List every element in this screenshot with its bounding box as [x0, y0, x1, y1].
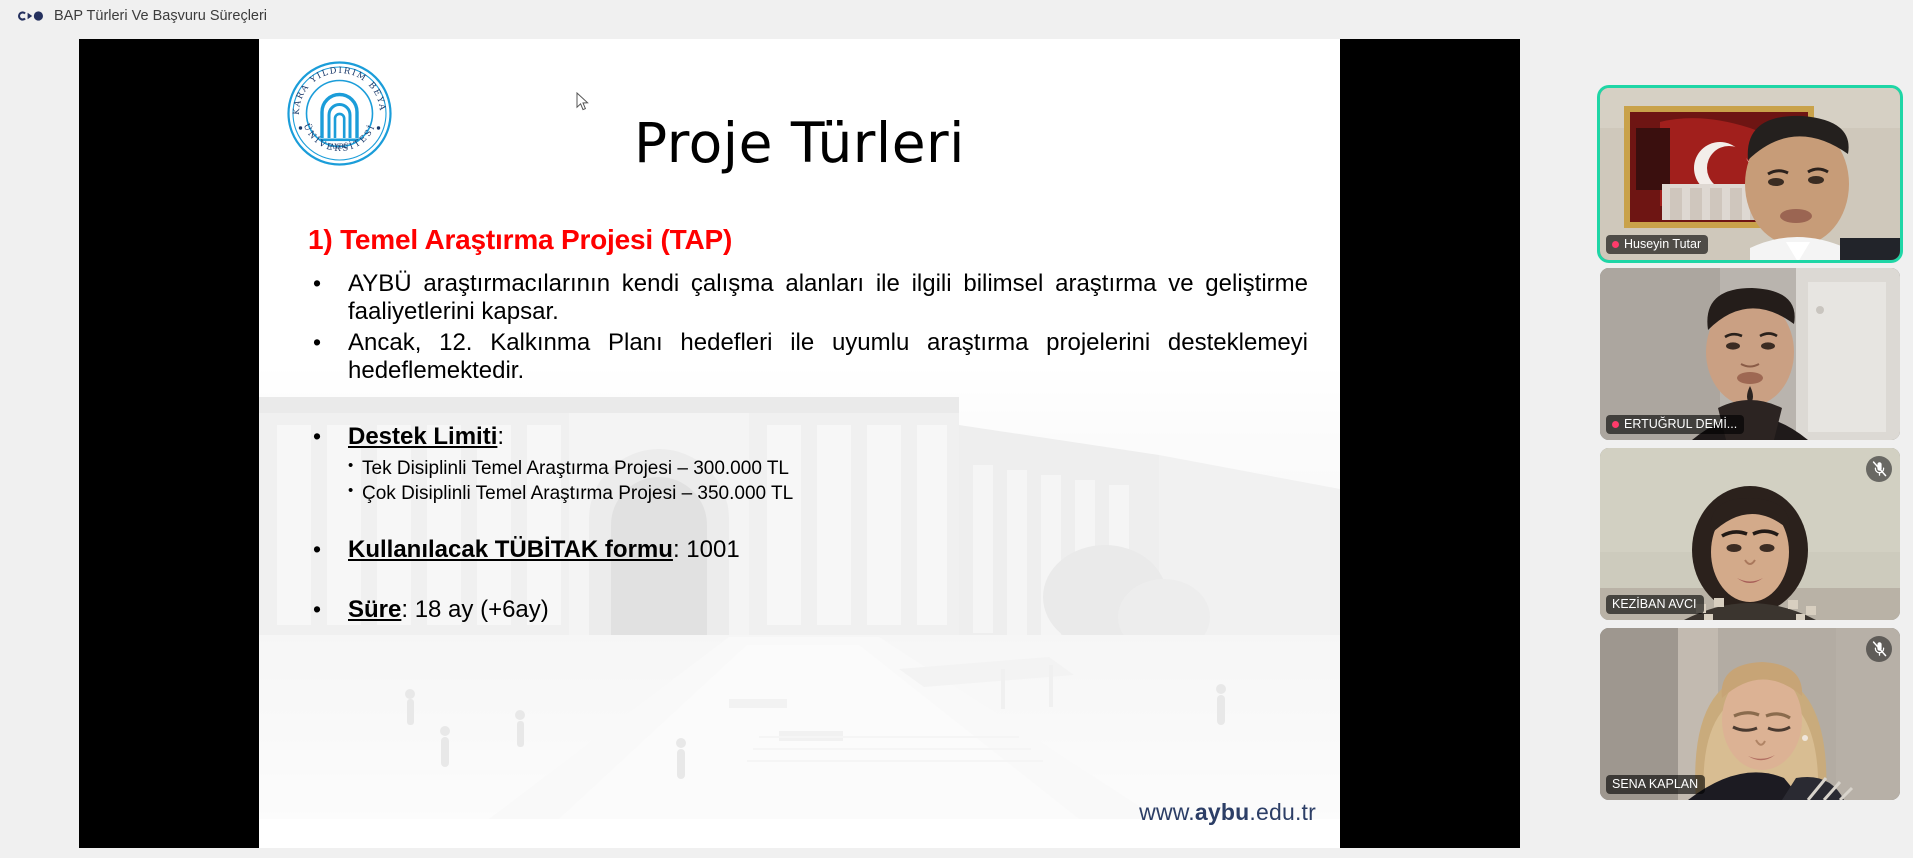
participant-name: SENA KAPLAN [1612, 777, 1698, 791]
bullet-text: Destek Limiti: [348, 423, 1308, 451]
mic-muted-icon [1866, 456, 1892, 482]
url-suffix: .edu.tr [1249, 799, 1316, 825]
window-title-bar: BAP Türleri Ve Başvuru Süreçleri [0, 0, 1913, 32]
destek-limiti-list: Tek Disiplinli Temel Araştırma Projesi –… [348, 456, 1308, 506]
sure-value: : 18 ay (+6ay) [401, 596, 548, 623]
url-brand: aybu [1195, 799, 1249, 825]
crowdcompass-logo-icon [14, 8, 44, 24]
slide-footer-url: www.aybu.edu.tr [1139, 799, 1316, 826]
tubitak-formu-value: : 1001 [673, 536, 740, 563]
bullet-text: Ancak, 12. Kalkınma Planı hedefleri ile … [348, 329, 1308, 386]
list-item: Çok Disiplinli Temel Araştırma Projesi –… [348, 481, 1308, 506]
bullet-item-sure: • Süre: 18 ay (+6ay) [308, 596, 1308, 624]
slide-body: 1) Temel Araştırma Projesi (TAP) • AYBÜ … [308, 224, 1308, 626]
participant-name: KEZİBAN AVCI [1612, 597, 1697, 611]
participant-tile[interactable]: Huseyin Tutar [1600, 88, 1900, 260]
participant-name: Huseyin Tutar [1624, 237, 1701, 251]
spacer [308, 566, 1308, 596]
bullet-item-tubitak-formu: • Kullanılacak TÜBİTAK formu: 1001 [308, 536, 1308, 564]
bullet-marker: • [308, 329, 348, 356]
mic-muted-icon [1866, 636, 1892, 662]
presentation-slide: AYBÜ ANKARA YILDIRIM BEYAZIT ÜNİVERSİTES… [259, 39, 1340, 848]
bullet-item-destek-limiti: • Destek Limiti: [308, 423, 1308, 451]
window-title-text: BAP Türleri Ve Başvuru Süreçleri [54, 8, 267, 24]
destek-limiti-label: Destek Limiti [348, 423, 497, 450]
participant-name-chip: KEZİBAN AVCI [1606, 595, 1704, 614]
tubitak-formu-label: Kullanılacak TÜBİTAK formu [348, 536, 673, 563]
participant-name-chip: Huseyin Tutar [1606, 235, 1708, 254]
participant-name: ERTUĞRUL DEMİ... [1624, 417, 1737, 431]
list-item: Tek Disiplinli Temel Araştırma Projesi –… [348, 456, 1308, 481]
bullet-marker: • [308, 596, 348, 623]
destek-limiti-colon: : [497, 423, 504, 450]
spacer [308, 506, 1308, 536]
bullet-text: Süre: 18 ay (+6ay) [348, 596, 1308, 624]
bullet-item: • Ancak, 12. Kalkınma Planı hedefleri il… [308, 329, 1308, 386]
participant-tile[interactable]: SENA KAPLAN [1600, 628, 1900, 800]
spacer [308, 387, 1308, 423]
sure-label: Süre [348, 596, 401, 623]
participant-name-chip: SENA KAPLAN [1606, 775, 1705, 794]
bullet-marker: • [308, 536, 348, 563]
bullet-marker: • [308, 270, 348, 297]
participant-name-chip: ERTUĞRUL DEMİ... [1606, 415, 1744, 434]
bullet-text: AYBÜ araştırmacılarının kendi çalışma al… [348, 270, 1308, 327]
bullet-text: Kullanılacak TÜBİTAK formu: 1001 [348, 536, 1308, 564]
slide-heading-tap: 1) Temel Araştırma Projesi (TAP) [308, 224, 1308, 256]
mic-active-dot-icon [1612, 241, 1619, 248]
participant-tile[interactable]: KEZİBAN AVCI [1600, 448, 1900, 620]
url-prefix: www. [1139, 799, 1195, 825]
bullet-item: • AYBÜ araştırmacılarının kendi çalışma … [308, 270, 1308, 327]
participant-filmstrip: Huseyin Tutar [1600, 88, 1900, 808]
shared-screen-stage[interactable]: AYBÜ ANKARA YILDIRIM BEYAZIT ÜNİVERSİTES… [79, 39, 1520, 848]
participant-tile[interactable]: ERTUĞRUL DEMİ... [1600, 268, 1900, 440]
slide-title: Proje Türleri [259, 111, 1340, 175]
bullet-marker: • [308, 423, 348, 450]
mic-active-dot-icon [1612, 421, 1619, 428]
